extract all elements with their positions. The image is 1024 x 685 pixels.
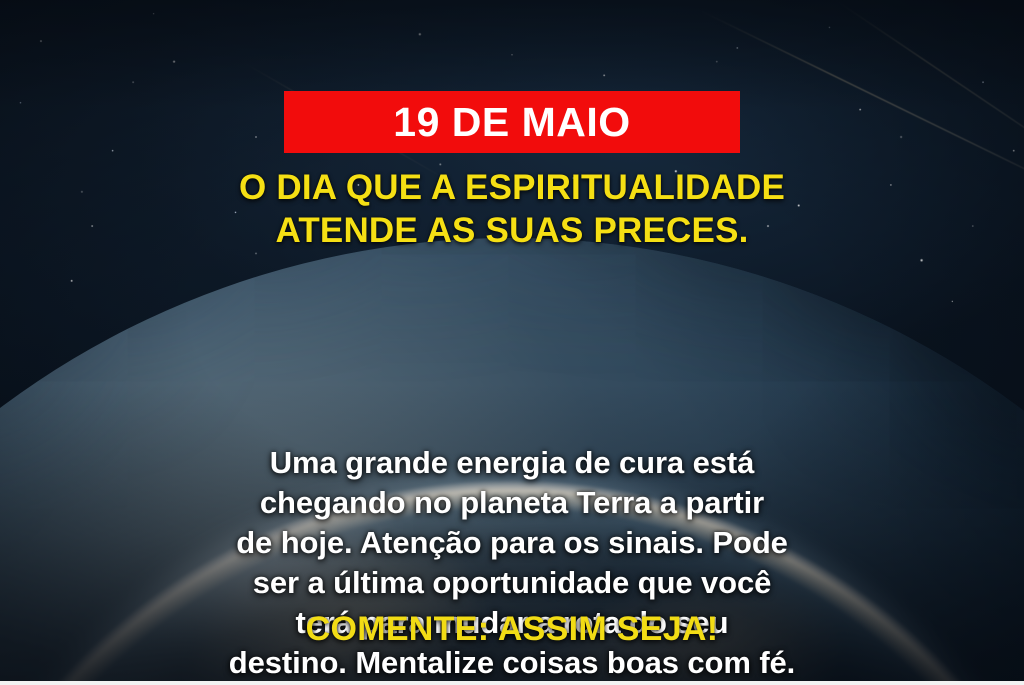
- call-to-action-label: COMENTE: ASSIM SEJA!: [0, 612, 1024, 646]
- poster-content: 19 DE MAIO O DIA QUE A ESPIRITUALIDADE A…: [0, 0, 1024, 685]
- headline-line-1: O DIA QUE A ESPIRITUALIDADE: [0, 167, 1024, 210]
- date-badge-label: 19 DE MAIO: [393, 102, 630, 143]
- bottom-border: [0, 681, 1024, 685]
- poster-canvas: 19 DE MAIO O DIA QUE A ESPIRITUALIDADE A…: [0, 0, 1024, 685]
- headline-line-2: ATENDE AS SUAS PRECES.: [0, 210, 1024, 253]
- body-line-1: Uma grande energia de cura está: [0, 443, 1024, 483]
- body-line-4: ser a última oportunidade que você: [0, 563, 1024, 603]
- body-line-2: chegando no planeta Terra a partir: [0, 483, 1024, 523]
- headline: O DIA QUE A ESPIRITUALIDADE ATENDE AS SU…: [0, 167, 1024, 252]
- body-line-6: destino. Mentalize coisas boas com fé.: [0, 643, 1024, 683]
- body-line-3: de hoje. Atenção para os sinais. Pode: [0, 523, 1024, 563]
- date-badge: 19 DE MAIO: [284, 91, 740, 153]
